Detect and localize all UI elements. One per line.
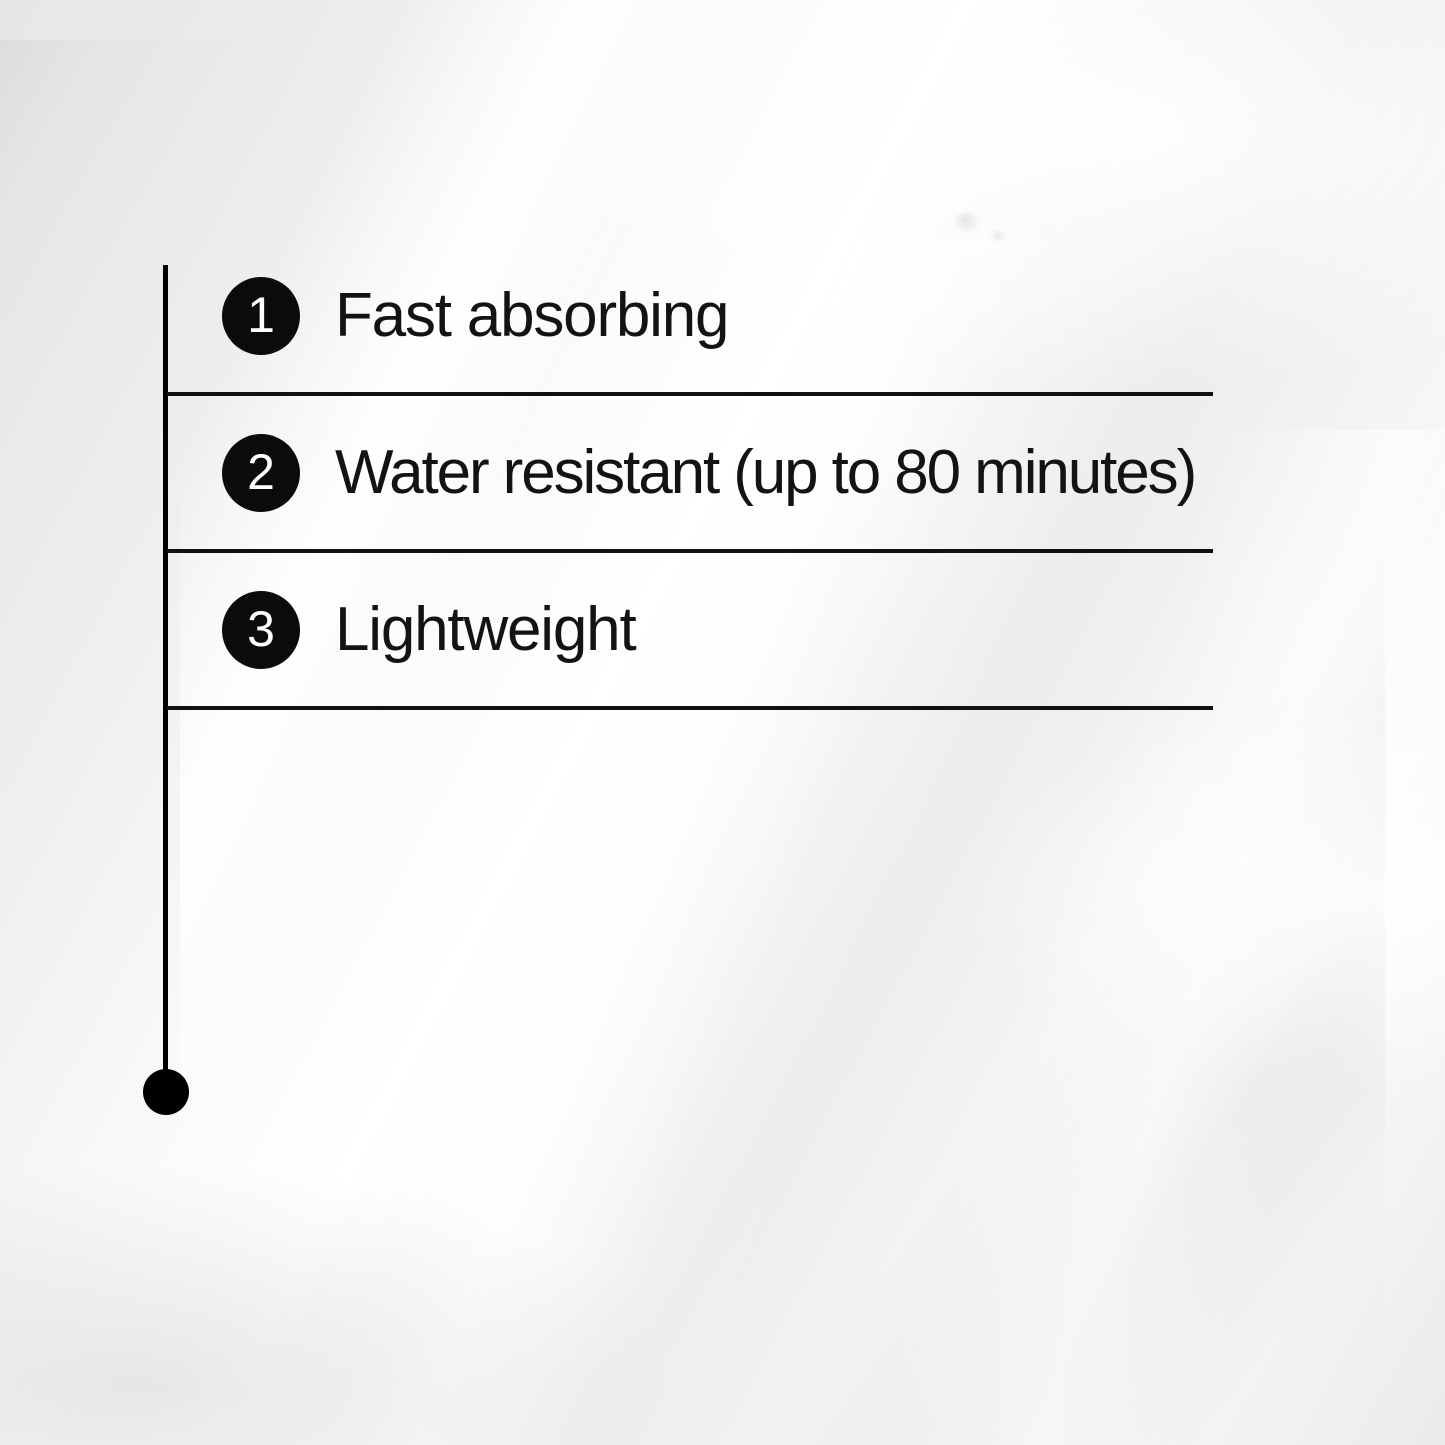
feature-label-2: Water resistant (up to 80 minutes): [335, 441, 1195, 504]
number-badge-1: 1: [222, 277, 300, 355]
background-sheen-top: [180, 0, 1445, 1115]
timeline-end-dot-icon: [143, 1069, 189, 1115]
background-sheen-mid: [0, 240, 1325, 1445]
divider-after-row-1: [167, 392, 1213, 396]
feature-row-1: 1 Fast absorbing: [167, 266, 728, 366]
background-glow-bottom-left: [0, 0, 1445, 1445]
product-feature-infographic: 1 Fast absorbing 2 Water resistant (up t…: [0, 0, 1445, 1445]
number-badge-3-value: 3: [247, 604, 275, 654]
number-badge-2-value: 2: [247, 447, 275, 497]
background-speck-secondary: [990, 230, 1006, 242]
background-glow-top-right: [0, 0, 1445, 1445]
feature-row-2: 2 Water resistant (up to 80 minutes): [167, 423, 1195, 523]
divider-after-row-3: [167, 706, 1213, 710]
background-glow-right: [0, 0, 1445, 1445]
feature-label-1: Fast absorbing: [335, 284, 728, 347]
feature-label-3: Lightweight: [335, 598, 635, 661]
number-badge-2: 2: [222, 434, 300, 512]
background-base: [0, 0, 1445, 1445]
number-badge-1-value: 1: [247, 290, 275, 340]
background-speck-primary: [955, 212, 981, 232]
number-badge-3: 3: [222, 591, 300, 669]
feature-row-3: 3 Lightweight: [167, 580, 635, 680]
divider-after-row-2: [167, 549, 1213, 553]
